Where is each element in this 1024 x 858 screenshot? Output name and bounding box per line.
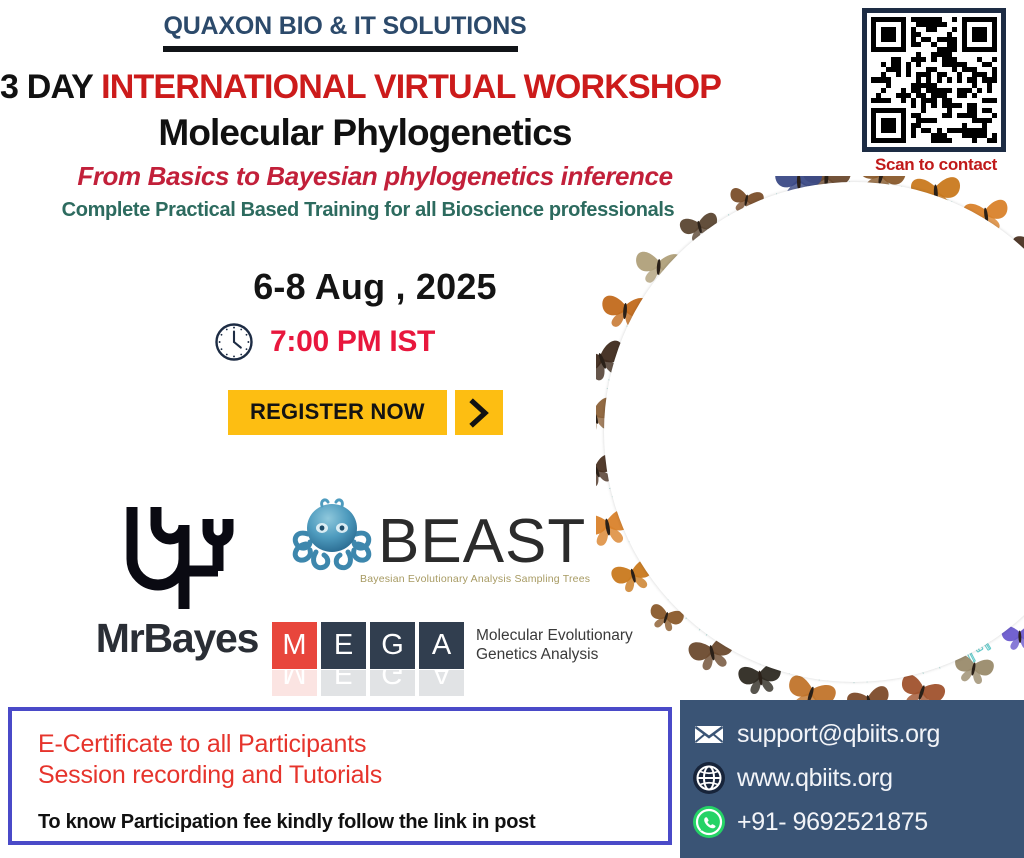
event-time: 7:00 PM IST xyxy=(270,325,435,359)
headline-prefix: 3 DAY xyxy=(0,68,101,106)
perk-line-certificate: E-Certificate to all Participants xyxy=(38,729,668,760)
register-cta-row: REGISTER NOW xyxy=(228,390,503,435)
contact-panel: support@qbiits.org www.qbiits.org xyxy=(680,700,1024,858)
logo-mega: M E G A Molecular Evolutionary Genetics … xyxy=(272,622,633,669)
qr-scan-label: Scan to contact xyxy=(862,155,1010,175)
phylogenetic-tree-figure xyxy=(596,176,1024,706)
contact-row-website[interactable]: www.qbiits.org xyxy=(692,758,1024,798)
octopus-icon xyxy=(288,498,376,572)
register-now-button[interactable]: REGISTER NOW xyxy=(228,390,447,435)
contact-website: www.qbiits.org xyxy=(737,764,893,793)
mega-tile-m: M xyxy=(272,622,317,669)
event-date: 6-8 Aug , 2025 xyxy=(160,266,590,308)
qr-code-icon[interactable] xyxy=(862,8,1006,152)
contact-row-phone[interactable]: +91- 9692521875 xyxy=(692,802,1024,842)
register-arrow-button[interactable] xyxy=(455,390,503,435)
contact-row-email[interactable]: support@qbiits.org xyxy=(692,714,1024,754)
mega-tile-g: G xyxy=(370,622,415,669)
beast-wordmark: BEAST xyxy=(378,513,586,572)
clock-icon xyxy=(214,322,254,362)
mega-tile-a: A xyxy=(419,622,464,669)
participation-fee-note: To know Participation fee kindly follow … xyxy=(38,811,668,834)
mega-tiles: M E G A xyxy=(272,622,464,669)
perk-line-recording: Session recording and Tutorials xyxy=(38,760,668,791)
headline-highlight: INTERNATIONAL VIRTUAL WORKSHOP xyxy=(101,68,721,106)
workshop-poster: QUAXON BIO & IT SOLUTIONS 3 DAY INTERNAT… xyxy=(0,0,1024,858)
qr-modules xyxy=(871,17,997,143)
phylogenetic-tree-icon xyxy=(42,495,312,613)
workshop-headline: 3 DAY INTERNATIONAL VIRTUAL WORKSHOP xyxy=(0,68,710,107)
contact-phone: +91- 9692521875 xyxy=(737,808,928,837)
envelope-icon xyxy=(692,717,726,751)
globe-icon xyxy=(692,761,726,795)
perks-box: E-Certificate to all Participants Sessio… xyxy=(8,707,672,845)
contact-email: support@qbiits.org xyxy=(737,720,940,749)
mega-tile-e: E xyxy=(321,622,366,669)
header-divider-rule xyxy=(163,46,518,52)
course-title: Molecular Phylogenetics xyxy=(0,112,730,154)
whatsapp-icon xyxy=(692,805,726,839)
logo-beast: BEAST Bayesian Evolutionary Analysis Sam… xyxy=(288,498,593,585)
organization-name: QUAXON BIO & IT SOLUTIONS xyxy=(0,12,690,41)
mega-logo-reflection: M E G A xyxy=(272,670,464,696)
beast-logo-row: BEAST xyxy=(288,498,593,572)
beast-caption: Bayesian Evolutionary Analysis Sampling … xyxy=(360,573,593,585)
qr-section: Scan to contact xyxy=(862,8,1010,175)
chevron-right-icon xyxy=(467,398,491,428)
event-time-row: 7:00 PM IST xyxy=(214,322,435,362)
